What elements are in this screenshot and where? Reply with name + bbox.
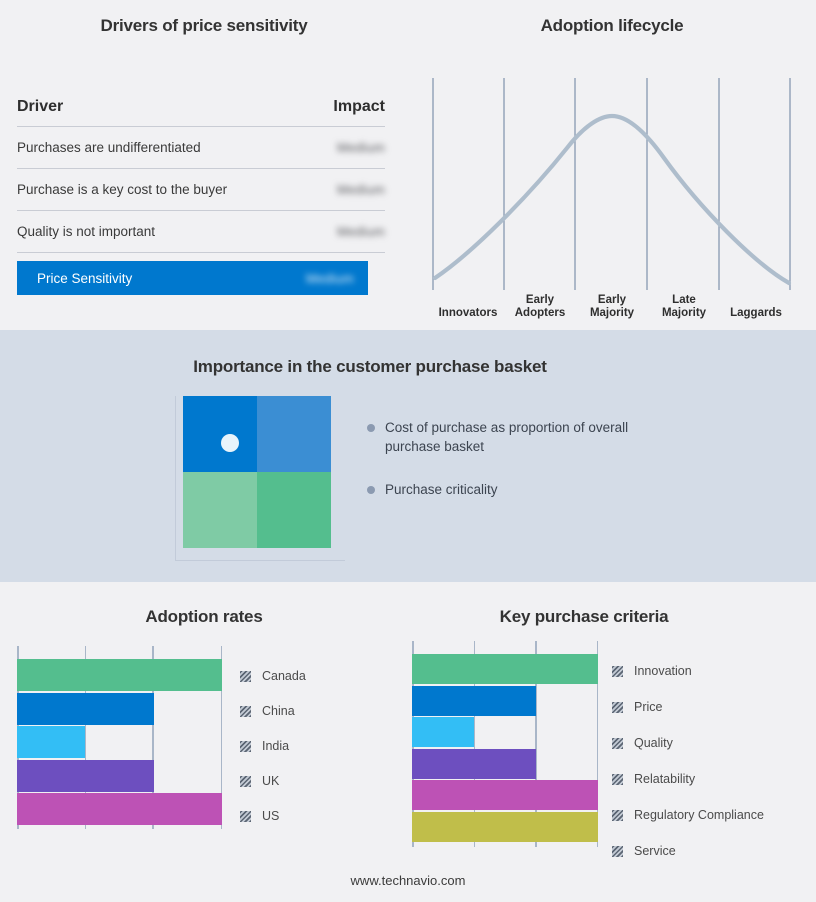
legend-swatch-icon xyxy=(612,666,623,677)
legend-swatch-icon xyxy=(240,776,251,787)
driver-label: Purchases are undifferentiated xyxy=(17,140,201,155)
list-item[interactable]: UK xyxy=(240,774,306,788)
stage-line-1: Early xyxy=(526,294,554,307)
bar-row-price[interactable] xyxy=(412,686,598,716)
footer-url[interactable]: www.technavio.com xyxy=(0,873,816,888)
bar-service[interactable] xyxy=(412,812,598,842)
list-item: Purchase criticality xyxy=(367,480,667,499)
driver-label: Purchase is a key cost to the buyer xyxy=(17,182,227,197)
stage-line-2: Adopters xyxy=(515,307,565,320)
stage-line-1: Early xyxy=(598,294,626,307)
legend-swatch-icon xyxy=(612,810,623,821)
list-item[interactable]: Canada xyxy=(240,669,306,683)
legend-label-price: Price xyxy=(634,700,662,714)
legend-label-us: US xyxy=(262,809,279,823)
table-row[interactable]: Purchase is a key cost to the buyer Medi… xyxy=(17,169,385,211)
purchase-basket-panel: Importance in the customer purchase bask… xyxy=(0,330,816,582)
bar-row-regulatory-compliance[interactable] xyxy=(412,780,598,810)
lifecycle-gridlines xyxy=(433,78,790,290)
legend-swatch-icon xyxy=(240,706,251,717)
legend-label-uk: UK xyxy=(262,774,279,788)
bar-canada[interactable] xyxy=(17,659,222,691)
bullet-dot-icon xyxy=(367,486,375,494)
list-item[interactable]: US xyxy=(240,809,306,823)
legend-label-china: China xyxy=(262,704,295,718)
bar-row-uk[interactable] xyxy=(17,760,222,792)
price-sensitivity-impact-value: Medium xyxy=(306,271,354,286)
stage-line-2: Innovators xyxy=(439,307,498,320)
table-row[interactable]: Purchases are undifferentiated Medium xyxy=(17,127,385,169)
lifecycle-stage-early-adopters: Early Adopters xyxy=(504,280,576,322)
list-item[interactable]: Quality xyxy=(612,736,764,750)
criteria-bar-rows xyxy=(412,654,598,842)
drivers-of-price-sensitivity-panel: Drivers of price sensitivity Driver Impa… xyxy=(0,0,408,330)
drivers-table: Driver Impact Purchases are undifferenti… xyxy=(17,88,385,295)
drivers-panel-title: Drivers of price sensitivity xyxy=(0,16,408,36)
lifecycle-stage-innovators: Innovators xyxy=(432,280,504,322)
table-row[interactable]: Quality is not important Medium xyxy=(17,211,385,253)
lifecycle-curve-chart xyxy=(432,78,792,288)
key-purchase-criteria-panel: Key purchase criteria xyxy=(408,582,816,902)
quadrant-top-right[interactable] xyxy=(257,396,331,472)
list-item[interactable]: Relatability xyxy=(612,772,764,786)
quadrant-top-left[interactable] xyxy=(183,396,257,472)
adoption-panel-title: Adoption rates xyxy=(0,607,408,627)
bar-row-india[interactable] xyxy=(17,726,222,758)
bar-uk[interactable] xyxy=(17,760,154,792)
list-item[interactable]: India xyxy=(240,739,306,753)
quadrant-bottom-left[interactable] xyxy=(183,472,257,548)
lifecycle-bell-curve xyxy=(435,116,789,283)
criteria-legend: Innovation Price Quality Relatability Re… xyxy=(612,664,764,858)
adoption-rates-panel: Adoption rates xyxy=(0,582,408,902)
impact-value: Medium xyxy=(337,140,385,155)
key-purchase-criteria-chart xyxy=(412,641,598,847)
stage-line-2: Majority xyxy=(590,307,634,320)
legend-label-innovation: Innovation xyxy=(634,664,692,678)
lifecycle-panel-title: Adoption lifecycle xyxy=(408,16,816,36)
quadrant-grid xyxy=(183,396,331,548)
legend-label-india: India xyxy=(262,739,289,753)
stage-line-2: Laggards xyxy=(730,307,782,320)
bar-quality[interactable] xyxy=(412,717,474,747)
criteria-panel-title: Key purchase criteria xyxy=(408,607,760,627)
adoption-rates-chart xyxy=(17,646,222,829)
legend-swatch-icon xyxy=(612,774,623,785)
bullet-dot-icon xyxy=(367,424,375,432)
list-item[interactable]: China xyxy=(240,704,306,718)
list-item[interactable]: Innovation xyxy=(612,664,764,678)
bar-row-china[interactable] xyxy=(17,693,222,725)
quadrant-bottom-right[interactable] xyxy=(257,472,331,548)
list-item: Cost of purchase as proportion of overal… xyxy=(367,418,667,456)
price-sensitivity-summary-row[interactable]: Price Sensitivity Medium xyxy=(17,261,368,295)
basket-legend-label: Purchase criticality xyxy=(385,480,498,499)
adoption-bar-rows xyxy=(17,659,222,825)
basket-legend-label: Cost of purchase as proportion of overal… xyxy=(385,418,640,456)
lifecycle-stage-late-majority: Late Majority xyxy=(648,280,720,322)
legend-label-canada: Canada xyxy=(262,669,306,683)
impact-value: Medium xyxy=(337,224,385,239)
impact-value: Medium xyxy=(337,182,385,197)
column-header-impact: Impact xyxy=(333,98,385,116)
legend-label-regulatory-compliance: Regulatory Compliance xyxy=(634,808,764,822)
lifecycle-stage-labels: Innovators Early Adopters Early Majority… xyxy=(432,280,792,322)
legend-label-relatability: Relatability xyxy=(634,772,695,786)
drivers-table-header-row: Driver Impact xyxy=(17,88,385,127)
legend-swatch-icon xyxy=(612,738,623,749)
list-item[interactable]: Regulatory Compliance xyxy=(612,808,764,822)
bar-row-quality[interactable] xyxy=(412,717,598,747)
stage-line-1: Late xyxy=(672,294,696,307)
bar-row-service[interactable] xyxy=(412,812,598,842)
legend-swatch-icon xyxy=(240,671,251,682)
legend-swatch-icon xyxy=(240,741,251,752)
bar-relatability[interactable] xyxy=(412,749,536,779)
lifecycle-svg xyxy=(432,78,792,290)
bar-row-innovation[interactable] xyxy=(412,654,598,684)
basket-panel-title: Importance in the customer purchase bask… xyxy=(0,357,740,377)
bar-innovation[interactable] xyxy=(412,654,598,684)
bar-regulatory-compliance[interactable] xyxy=(412,780,598,810)
list-item[interactable]: Price xyxy=(612,700,764,714)
legend-swatch-icon xyxy=(612,846,623,857)
bar-us[interactable] xyxy=(17,793,222,825)
bar-row-canada[interactable] xyxy=(17,659,222,691)
column-header-driver: Driver xyxy=(17,98,63,116)
bar-china[interactable] xyxy=(17,693,154,725)
stage-line-2: Majority xyxy=(662,307,706,320)
position-marker-icon xyxy=(221,434,239,452)
basket-legend: Cost of purchase as proportion of overal… xyxy=(367,418,667,523)
price-sensitivity-label: Price Sensitivity xyxy=(37,271,132,286)
list-item[interactable]: Service xyxy=(612,844,764,858)
driver-label: Quality is not important xyxy=(17,224,155,239)
legend-label-quality: Quality xyxy=(634,736,673,750)
lifecycle-stage-early-majority: Early Majority xyxy=(576,280,648,322)
bar-row-relatability[interactable] xyxy=(412,749,598,779)
bar-price[interactable] xyxy=(412,686,536,716)
adoption-lifecycle-panel: Adoption lifecycle Innovators Early Adop… xyxy=(408,0,816,330)
lifecycle-stage-laggards: Laggards xyxy=(720,280,792,322)
bar-row-us[interactable] xyxy=(17,793,222,825)
adoption-legend: Canada China India UK US xyxy=(240,669,306,823)
bar-india[interactable] xyxy=(17,726,85,758)
legend-label-service: Service xyxy=(634,844,676,858)
quadrant-matrix-chart xyxy=(175,396,350,566)
legend-swatch-icon xyxy=(612,702,623,713)
legend-swatch-icon xyxy=(240,811,251,822)
